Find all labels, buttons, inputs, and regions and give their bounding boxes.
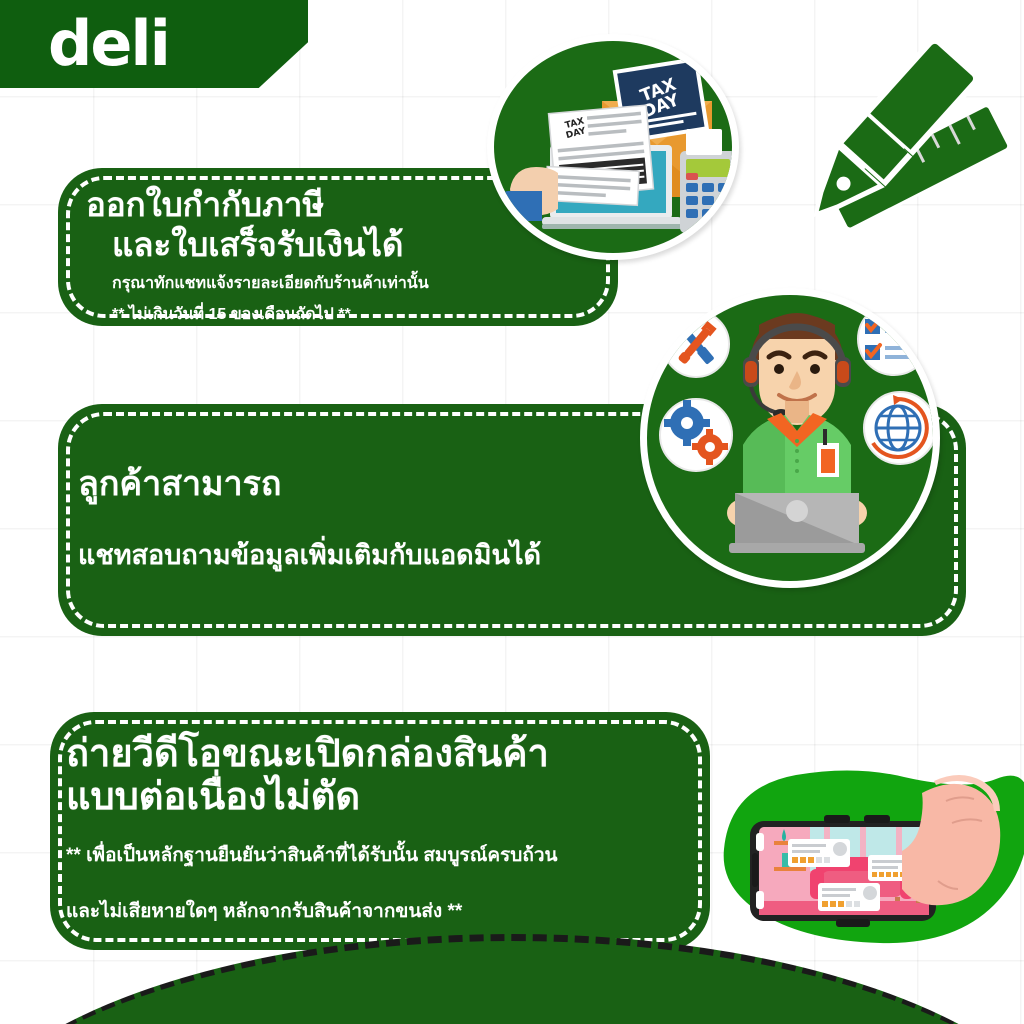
brand-logo-text: deli xyxy=(48,13,169,75)
card3-headline-line2: แบบต่อเนื่องไม่ตัด xyxy=(66,775,710,820)
tax-documents-illustration: TAX DAY TAX DAY xyxy=(487,34,739,260)
phone-unboxing-review-illustration xyxy=(690,745,1024,985)
customer-support-agent-illustration xyxy=(640,288,940,588)
card1-sub-line1: กรุณาทักแชทแจ้งรายละเอียดกับร้านค้าเท่าน… xyxy=(86,271,618,296)
pen-and-ruler-illustration xyxy=(775,15,1024,240)
card3-headline-line1: ถ่ายวีดีโอขณะเปิดกล่องสินค้า xyxy=(66,732,710,777)
unboxing-video-card: ถ่ายวีดีโอขณะเปิดกล่องสินค้า แบบต่อเนื่อ… xyxy=(50,712,710,950)
card1-sub-line2: ** ไม่เกินวันที่ 15 ของเดือนถัดไป ** xyxy=(86,302,618,327)
poster-canvas: deli xyxy=(0,0,1024,1024)
brand-logo-banner: deli xyxy=(0,0,308,88)
card3-body-line2: และไม่เสียหายใดๆ หลักจากรับสินค้าจากขนส่… xyxy=(66,896,710,926)
card3-body-line1: ** เพื่อเป็นหลักฐานยืนยันว่าสินค้าที่ได้… xyxy=(66,840,710,870)
